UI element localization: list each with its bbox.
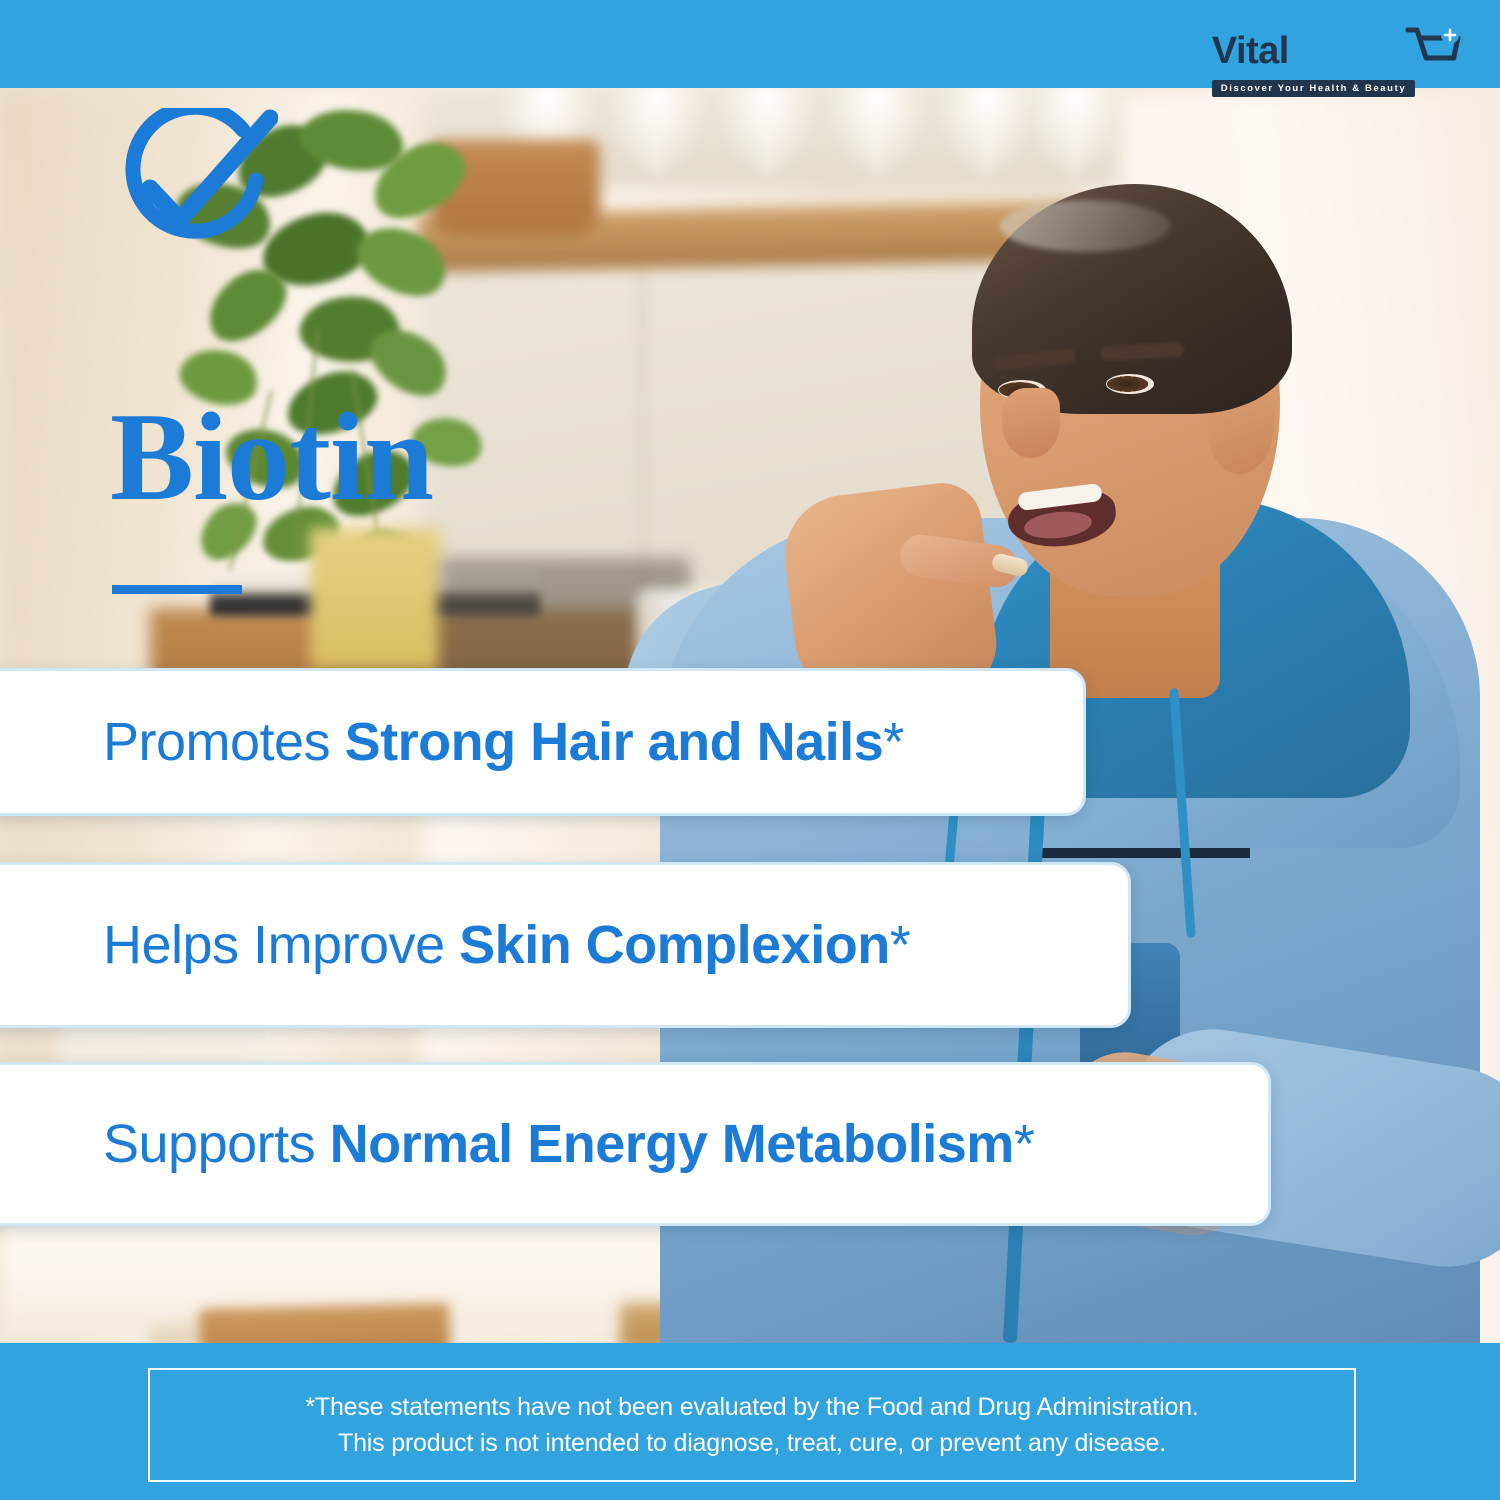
benefit-lead-3: Supports [103,1114,330,1174]
benefit-emphasis-3: Normal Energy Metabolism [330,1114,1014,1174]
page-title: Biotin [110,395,433,521]
benefit-footnote-3: * [1014,1114,1035,1174]
logo-text-vital: Vital [1212,30,1289,72]
nose [1002,388,1060,458]
benefit-bar-1: Promotes Strong Hair and Nails* [0,668,1086,816]
benefit-lead-1: Promotes [103,712,345,772]
benefit-emphasis-2: Skin Complexion [459,915,890,975]
benefit-text-1: Promotes Strong Hair and Nails* [0,711,904,773]
title-underline [112,585,242,594]
benefit-lead-2: Helps Improve [103,915,459,975]
logo-text-health: Health [1289,30,1402,72]
benefit-bar-2: Helps Improve Skin Complexion* [0,862,1131,1028]
benefit-bar-3: Supports Normal Energy Metabolism* [0,1062,1271,1226]
benefit-footnote-2: * [890,915,911,975]
cutting-board [199,1303,450,1343]
logo-tagline: Discover Your Health & Beauty [1212,80,1415,97]
benefit-text-2: Helps Improve Skin Complexion* [0,914,910,976]
disclaimer-line-2: This product is not intended to diagnose… [338,1425,1166,1461]
benefit-emphasis-1: Strong Hair and Nails [345,712,884,772]
disclaimer-line-1: *These statements have not been evaluate… [305,1389,1198,1425]
eye-right [1106,374,1154,394]
grey-hair-highlight [1000,200,1170,252]
product-infographic: VitalHealth Discover Your Health & Beaut… [0,0,1500,1500]
circle-check-icon [108,108,278,263]
fda-disclaimer: *These statements have not been evaluate… [148,1368,1356,1482]
benefit-text-3: Supports Normal Energy Metabolism* [0,1113,1034,1175]
shopping-cart-plus-icon [1404,24,1464,77]
benefit-footnote-1: * [883,712,904,772]
brand-logo[interactable]: VitalHealth Discover Your Health & Beaut… [1212,24,1464,97]
small-bowl [12,1326,82,1343]
yellow-planter [310,528,440,668]
